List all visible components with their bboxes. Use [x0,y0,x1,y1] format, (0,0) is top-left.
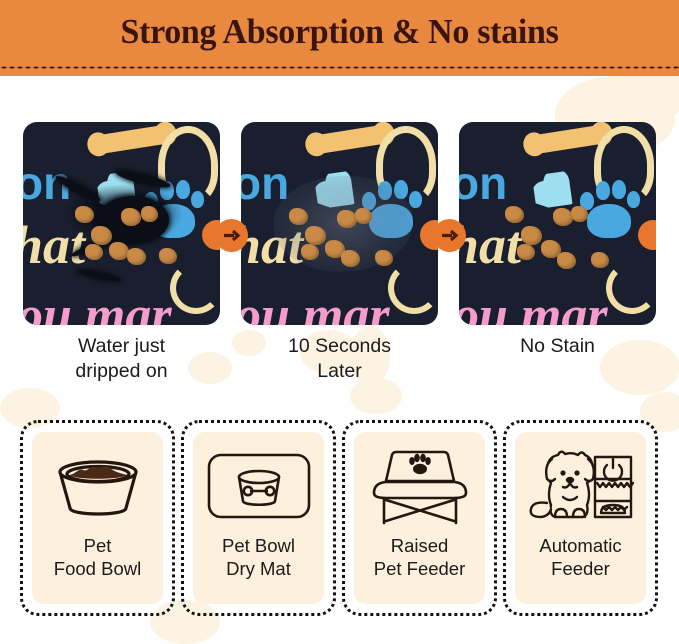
use-case-card-raised-pet-feeder[interactable]: Raised Pet Feeder [342,420,497,616]
card-label: Raised Pet Feeder [374,534,466,580]
card-inner: Pet Food Bowl [32,432,163,604]
kibble-piece [337,210,357,228]
kibble-piece [289,208,308,225]
kibble-piece [341,250,360,267]
caption-ten-seconds: 10 Seconds Later [241,334,438,384]
mat-text-hat: hat [459,218,521,272]
mat-text-mar: ou mar [459,290,608,325]
bone-graphic [530,124,606,154]
use-case-cards: Pet Food Bowl Pet [0,420,679,620]
card-label-line: Pet Feeder [374,557,466,580]
comparison-photo-ten-seconds: on hat ou mar [241,122,438,325]
card-label: Pet Bowl Dry Mat [222,534,295,580]
mat-text-on: on [459,160,507,206]
card-label-line: Raised [374,534,466,557]
card-label: Automatic Feeder [539,534,621,580]
kibble-piece [141,206,158,222]
pet-food-bowl-icon [38,444,158,528]
kibble-piece [571,206,588,222]
paw-toe [596,181,610,200]
use-case-card-automatic-feeder[interactable]: Automatic Feeder [503,420,658,616]
card-label-line: Food Bowl [54,557,141,580]
paw-toe [612,180,626,199]
arrow-right-icon [215,219,248,252]
header-banner: Strong Absorption & No stains [0,0,679,76]
caption-water-dripped: Water just dripped on [23,334,220,384]
paw-pad [587,204,631,238]
caption-line: Water just [23,334,220,359]
swirl-graphic [388,262,438,314]
card-label: Pet Food Bowl [54,534,141,580]
swirl-graphic [606,262,656,314]
comparison-captions: Water just dripped on 10 Seconds Later N… [0,334,679,400]
pet-mat-artwork: on hat ou mar [23,122,220,325]
kibble-piece [121,208,141,226]
card-label-line: Feeder [539,557,621,580]
mat-text-mar: ou mar [23,290,172,325]
paw-toe [627,191,640,208]
comparison-photo-water-dripped: on hat ou mar [23,122,220,325]
use-case-card-pet-food-bowl[interactable]: Pet Food Bowl [20,420,175,616]
comparison-photo-no-stain: on hat ou mar [459,122,656,325]
kibble-piece [355,208,372,224]
kibble-piece [521,226,542,245]
caption-line: Later [241,359,438,384]
kibble-piece [75,206,94,223]
kibble-piece [591,252,609,268]
kibble-piece [505,206,524,223]
caption-line: dripped on [23,359,220,384]
paw-toe [409,191,422,208]
kibble-piece [109,242,129,260]
raised-pet-feeder-icon [360,444,480,528]
card-label-line: Automatic [539,534,621,557]
pet-mat-artwork: on hat ou mar [459,122,656,325]
bone-graphic [312,124,388,154]
kibble-piece [375,250,393,266]
pet-bowl-dry-mat-icon [199,444,319,528]
card-inner: Pet Bowl Dry Mat [193,432,324,604]
use-case-card-pet-bowl-dry-mat[interactable]: Pet Bowl Dry Mat [181,420,336,616]
mat-text-mar: ou mar [241,290,390,325]
paw-print-graphic [579,178,641,240]
banner-dotted-divider [0,66,679,69]
card-label-line: Pet [54,534,141,557]
card-inner: Automatic Feeder [515,432,646,604]
bone-graphic [94,124,170,154]
comparison-photo-row: on hat ou mar [0,122,679,325]
card-inner: Raised Pet Feeder [354,432,485,604]
automatic-feeder-icon [521,444,641,528]
kibble-piece [305,226,326,245]
kibble-piece [301,244,319,260]
caption-no-stain: No Stain [459,334,656,359]
kibble-piece [553,208,573,226]
page-title: Strong Absorption & No stains [10,12,669,52]
card-label-line: Dry Mat [222,557,295,580]
arrow-right-icon [433,219,466,252]
kibble-piece [517,244,535,260]
card-label-line: Pet Bowl [222,534,295,557]
kibble-piece [557,252,576,269]
heart-graphic [543,180,572,207]
kibble-piece [159,248,177,264]
kibble-piece [85,244,103,260]
kibble-piece [91,226,112,245]
caption-line: No Stain [459,334,656,359]
kibble-piece [127,248,146,265]
pet-mat-artwork: on hat ou mar [241,122,438,325]
caption-line: 10 Seconds [241,334,438,359]
